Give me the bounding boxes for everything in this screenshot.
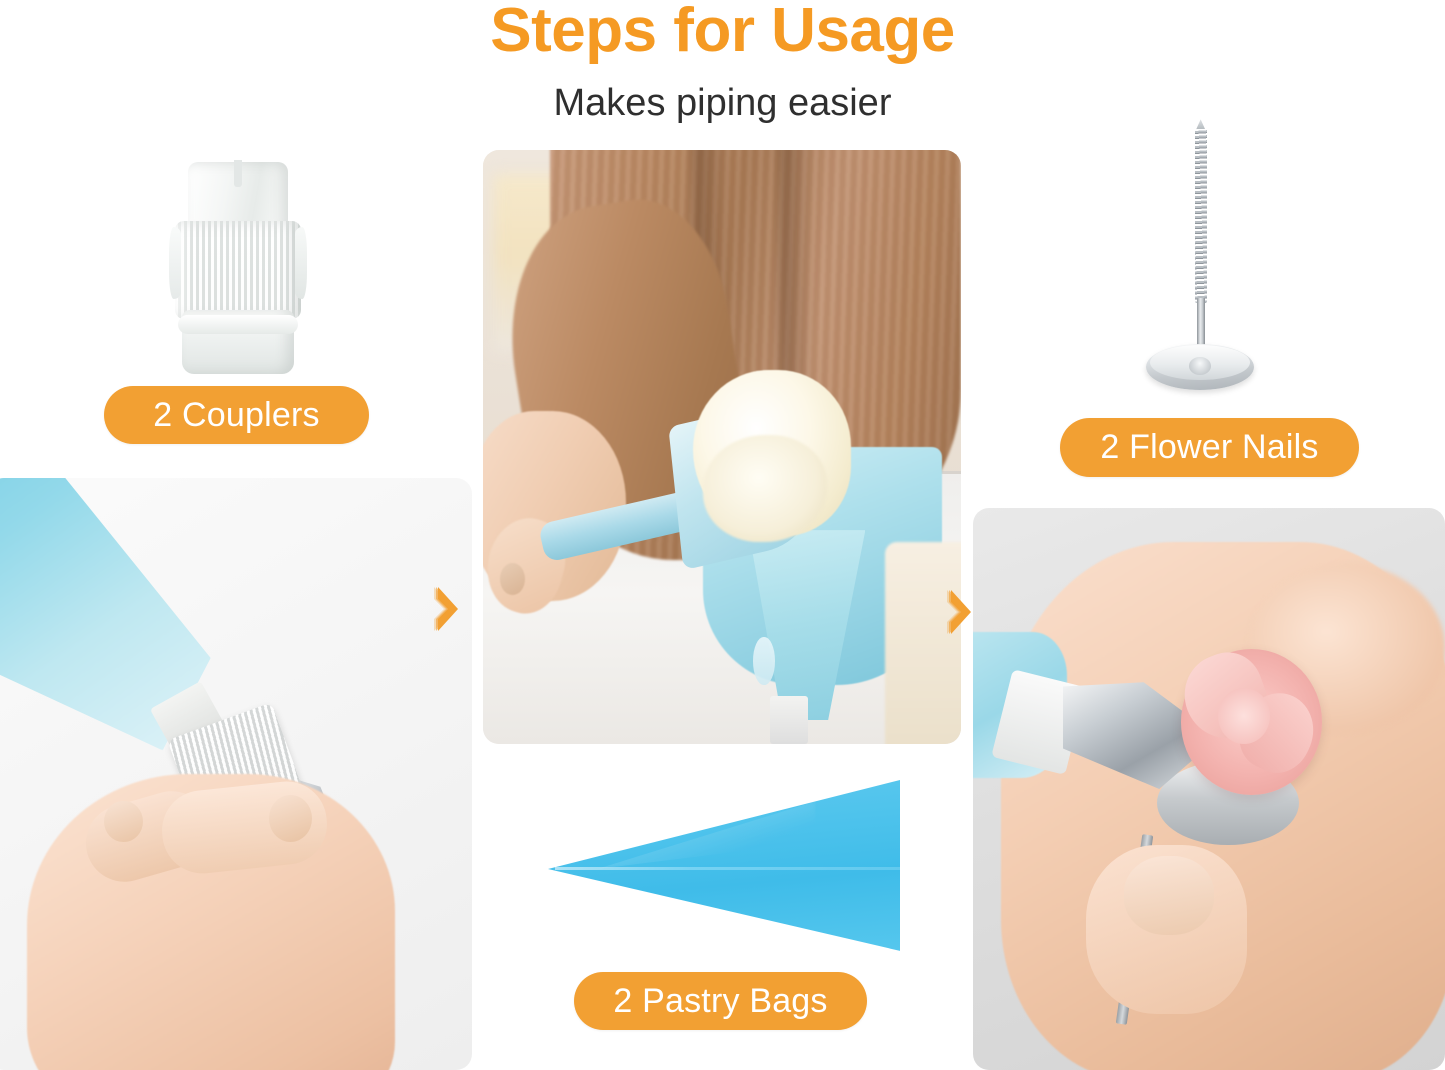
product-image-pastry-bag bbox=[548, 780, 900, 958]
badge-flower-nails: 2 Flower Nails bbox=[1060, 418, 1359, 477]
rose-center bbox=[1218, 688, 1270, 744]
product-image-flower-nail bbox=[1132, 118, 1268, 390]
step-photo-fill-bag bbox=[483, 150, 961, 744]
badge-pastry-bags: 2 Pastry Bags bbox=[574, 972, 867, 1030]
step-photo-attach-tip bbox=[0, 478, 472, 1070]
step-photo-pipe-rose bbox=[973, 508, 1445, 1070]
infographic-canvas: Steps for Usage Makes piping easier bbox=[0, 0, 1445, 1069]
thumbnail bbox=[1124, 856, 1214, 935]
white-coupler-ring bbox=[770, 696, 808, 744]
product-image-coupler bbox=[168, 162, 308, 374]
whipped-cream-highlight bbox=[703, 435, 827, 542]
cream-drip bbox=[753, 637, 775, 685]
fingernail bbox=[269, 795, 313, 842]
threaded-shaft bbox=[1195, 129, 1207, 303]
coupler-ribbed-body bbox=[175, 221, 301, 319]
nail-hub bbox=[1189, 357, 1211, 375]
coupler-base-ring bbox=[178, 315, 298, 334]
page-title: Steps for Usage bbox=[0, 0, 1445, 63]
coupler-slot bbox=[234, 160, 242, 188]
fingernail bbox=[104, 801, 143, 842]
apron bbox=[885, 542, 961, 744]
fingernail bbox=[500, 563, 525, 595]
badge-couplers: 2 Couplers bbox=[104, 386, 369, 444]
